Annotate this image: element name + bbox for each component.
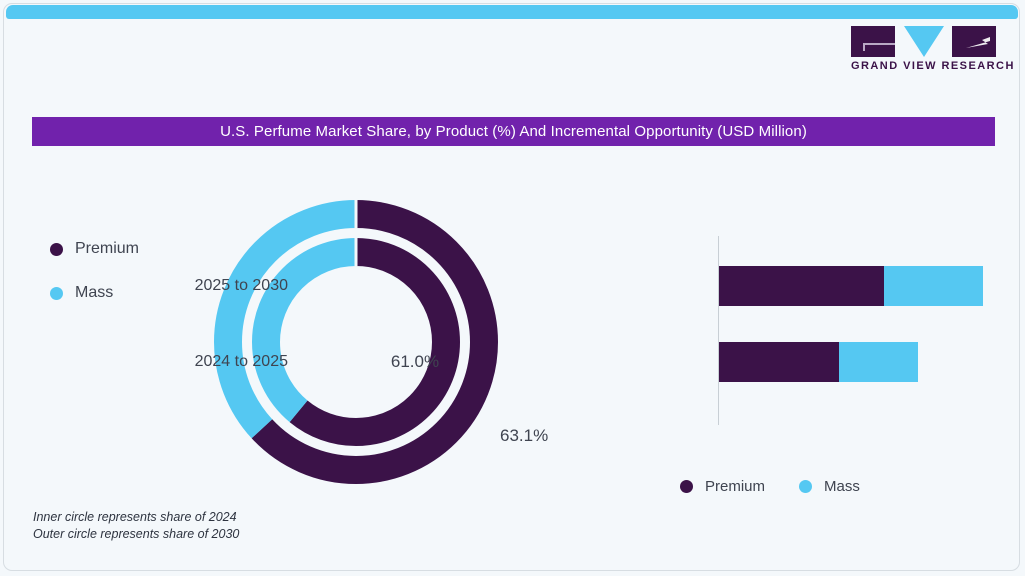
bar-chart-legend: Premium Mass xyxy=(680,478,894,495)
chart-title: U.S. Perfume Market Share, by Product (%… xyxy=(220,123,807,140)
logo-wordmark: GRAND VIEW RESEARCH xyxy=(851,60,996,72)
nested-donut-chart: 61.0% xyxy=(200,186,512,498)
legend-label-premium: Premium xyxy=(75,240,139,258)
brand-logo: GRAND VIEW RESEARCH xyxy=(851,26,996,74)
donut-inner-ring xyxy=(266,238,446,432)
logo-left-vertical-tick xyxy=(863,43,865,51)
donut-footnote: Inner circle represents share of 2024 Ou… xyxy=(33,509,239,543)
bar-legend-label-mass: Mass xyxy=(824,478,860,495)
footnote-line-1: Inner circle represents share of 2024 xyxy=(33,509,239,526)
logo-marks xyxy=(851,26,996,57)
bar-legend-item-premium[interactable]: Premium xyxy=(680,478,765,495)
donut-inner-percentage: 61.0% xyxy=(355,352,475,372)
logo-arrow-icon xyxy=(952,26,996,57)
bar-segment-mass[interactable] xyxy=(884,266,983,306)
bar-legend-dot-premium-icon xyxy=(680,480,693,493)
bar-legend-label-premium: Premium xyxy=(705,478,765,495)
bar-stack-2024-2025 xyxy=(719,342,918,382)
logo-triangle-icon xyxy=(904,26,944,57)
bar-stack-2025-2030 xyxy=(719,266,983,306)
bar-legend-item-mass[interactable]: Mass xyxy=(799,478,860,495)
chart-canvas: GRAND VIEW RESEARCH U.S. Perfume Market … xyxy=(0,0,1025,576)
bar-segment-premium[interactable] xyxy=(719,266,884,306)
chart-title-bar: U.S. Perfume Market Share, by Product (%… xyxy=(32,117,995,146)
bar-label-2025-2030: 2025 to 2030 xyxy=(98,277,288,295)
legend-item-premium[interactable]: Premium xyxy=(50,238,139,260)
bar-segment-premium[interactable] xyxy=(719,342,839,382)
bar-legend-dot-mass-icon xyxy=(799,480,812,493)
logo-left-rectangle-icon xyxy=(851,26,895,57)
bar-label-2024-2025: 2024 to 2025 xyxy=(98,353,288,371)
bar-chart-axis-line xyxy=(718,236,719,425)
legend-dot-mass-icon xyxy=(50,287,63,300)
bar-segment-mass[interactable] xyxy=(839,342,918,382)
logo-left-horizontal-line xyxy=(863,43,895,45)
donut-outer-percentage: 63.1% xyxy=(500,426,548,446)
footnote-line-2: Outer circle represents share of 2030 xyxy=(33,526,239,543)
incremental-opportunity-bar-chart: 2025 to 2030 2024 to 2025 xyxy=(580,230,1000,430)
top-accent-strip xyxy=(6,5,1018,19)
donut-svg xyxy=(200,186,512,498)
legend-dot-premium-icon xyxy=(50,243,63,256)
